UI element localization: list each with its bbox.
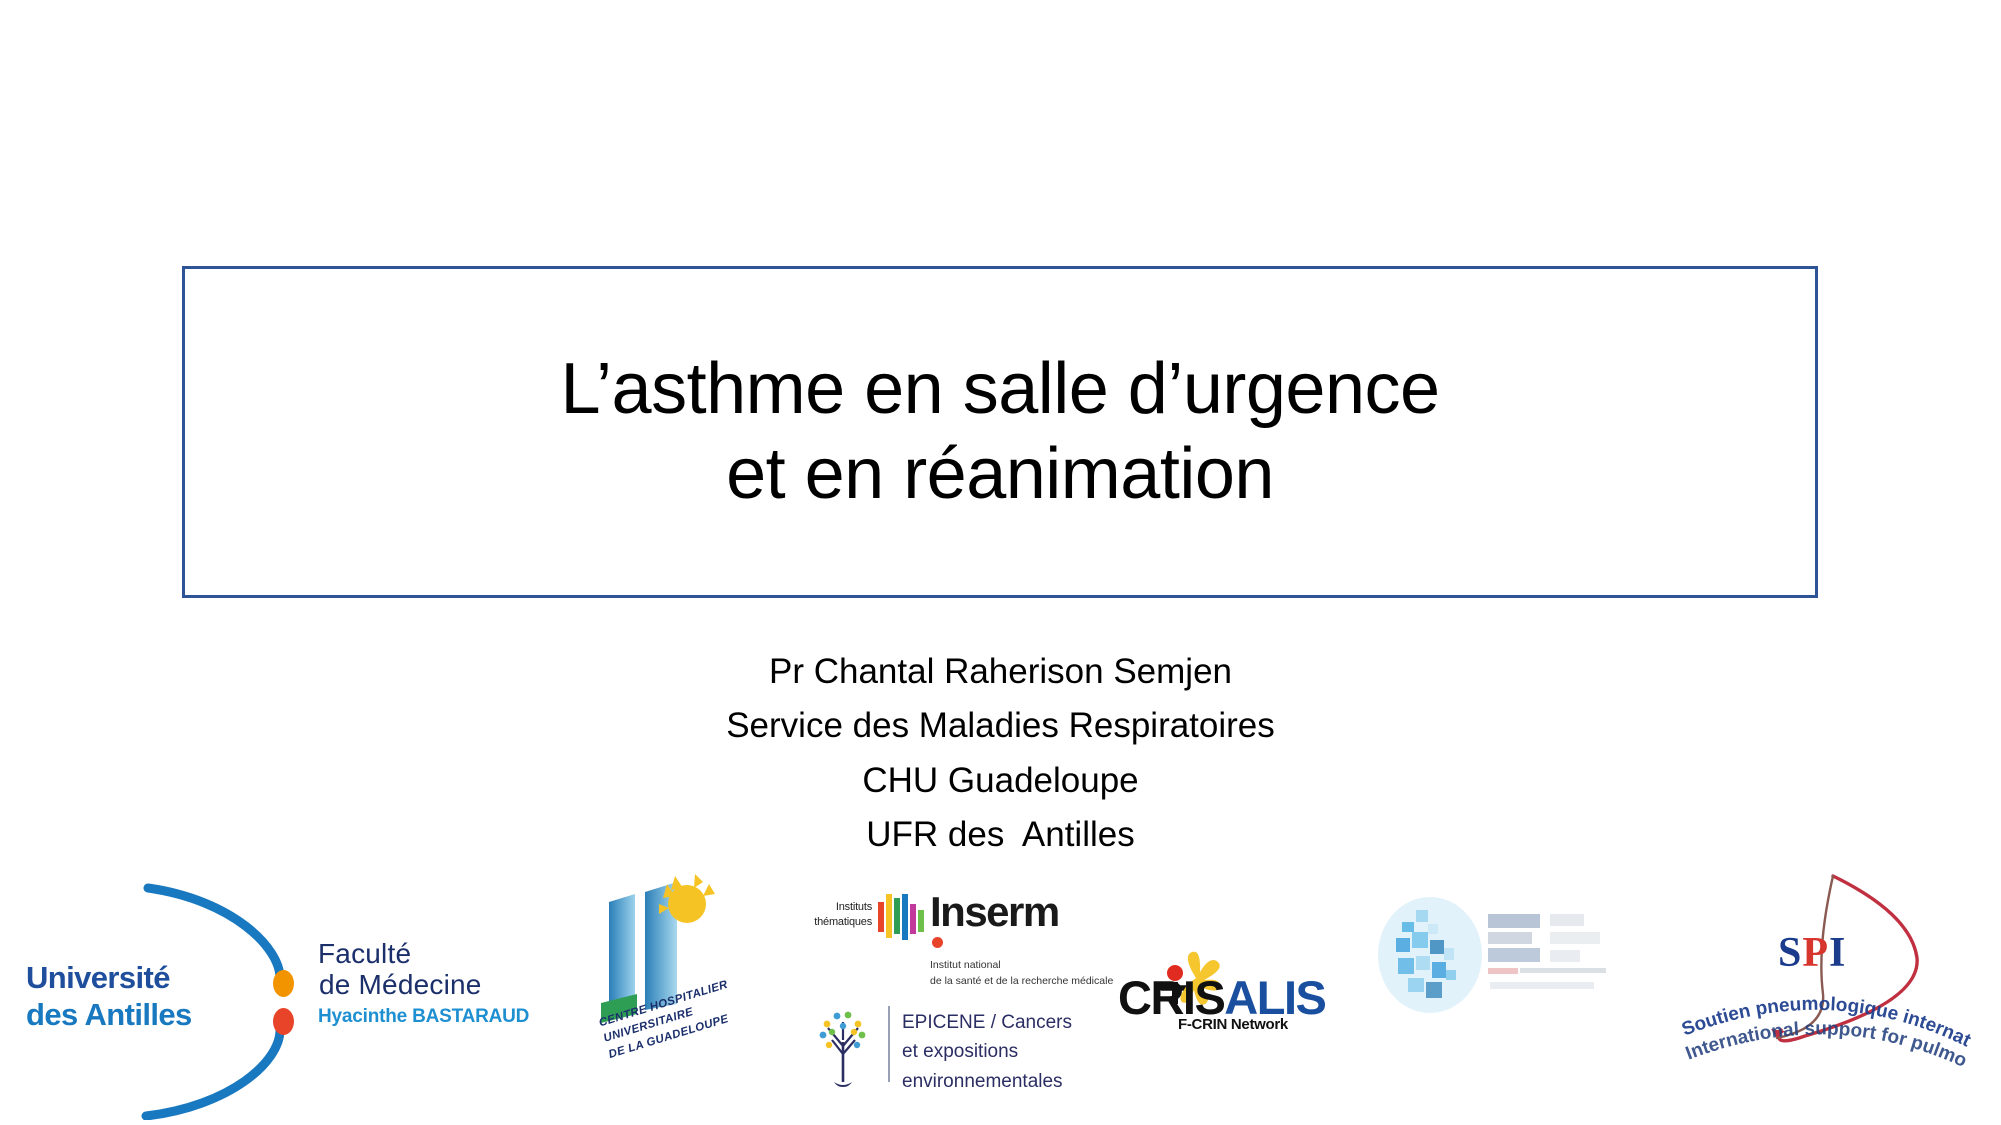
spi-curve-and-arc-text-icon: Soutien pneumologique international Inte… — [1655, 866, 1985, 1116]
spi-letters: SPI — [1778, 929, 1846, 977]
inserm-tagline: Institut national de la santé et de la r… — [930, 958, 1113, 990]
inserm-color-bars-icon — [878, 894, 924, 942]
spi-logo: Soutien pneumologique international Inte… — [1655, 866, 1985, 1116]
faculte-line-2: de Médecine — [318, 969, 543, 1000]
subtitle-line-hospital: CHU Guadeloupe — [0, 754, 2001, 808]
crisalis-subtitle: F-CRIN Network — [1178, 1016, 1288, 1033]
universite-des-antilles-logo: Université des Antilles — [18, 870, 298, 1120]
crisalis-logo: CRISALIS F-CRIN Network — [1118, 948, 1308, 1038]
faculte-line-1: Faculté — [318, 938, 543, 969]
universite-wordmark: Université des Antilles — [26, 960, 261, 1033]
subtitle-line-department: Service des Maladies Respiratoires — [0, 699, 2001, 753]
epicene-text: EPICENE / Cancers et expositions environ… — [902, 1008, 1072, 1096]
faculte-line-3: Hyacinthe BASTARAUD — [318, 1006, 543, 1028]
subtitle-line-university: UFR des Antilles — [0, 808, 2001, 862]
title-box: L’asthme en salle d’urgence et en réanim… — [182, 266, 1818, 598]
tree-icon — [810, 1002, 878, 1088]
logo-strip: Université des Antilles Faculté de Médec… — [0, 860, 2001, 1125]
title-line-2: et en réanimation — [726, 432, 1274, 517]
spi-letter-p: P — [1802, 930, 1829, 976]
globe-icon — [1368, 870, 1638, 1070]
universite-line-1: Université — [26, 960, 261, 997]
subtitle-block: Pr Chantal Raherison Semjen Service des … — [0, 645, 2001, 862]
orange-dot-icon — [273, 970, 294, 997]
spi-letter-s: S — [1778, 930, 1802, 976]
epicene-logo: EPICENE / Cancers et expositions environ… — [800, 1000, 1080, 1110]
spi-letter-i: I — [1829, 930, 1846, 976]
ers-logo: ERS european respiratory society — [1368, 870, 1638, 1070]
faculte-de-medecine-logo: Faculté de Médecine Hyacinthe BASTARAUD — [318, 938, 543, 1048]
title-line-1: L’asthme en salle d’urgence — [560, 347, 1439, 432]
inserm-wordmark: Inserm — [930, 888, 1059, 936]
subtitle-line-presenter: Pr Chantal Raherison Semjen — [0, 645, 2001, 699]
inserm-logo: Instituts thématiques Inserm Institut na… — [800, 880, 1080, 990]
inserm-instituts-thematiques-text: Instituts thématiques — [800, 900, 872, 930]
epicene-divider — [888, 1006, 890, 1082]
universite-line-2: des Antilles — [26, 997, 261, 1034]
chu-guadeloupe-logo: CENTRE HOSPITALIER UNIVERSITAIRE DE LA G… — [595, 868, 740, 1118]
red-dot-icon — [273, 1008, 294, 1035]
inserm-red-dot-icon — [932, 937, 943, 948]
